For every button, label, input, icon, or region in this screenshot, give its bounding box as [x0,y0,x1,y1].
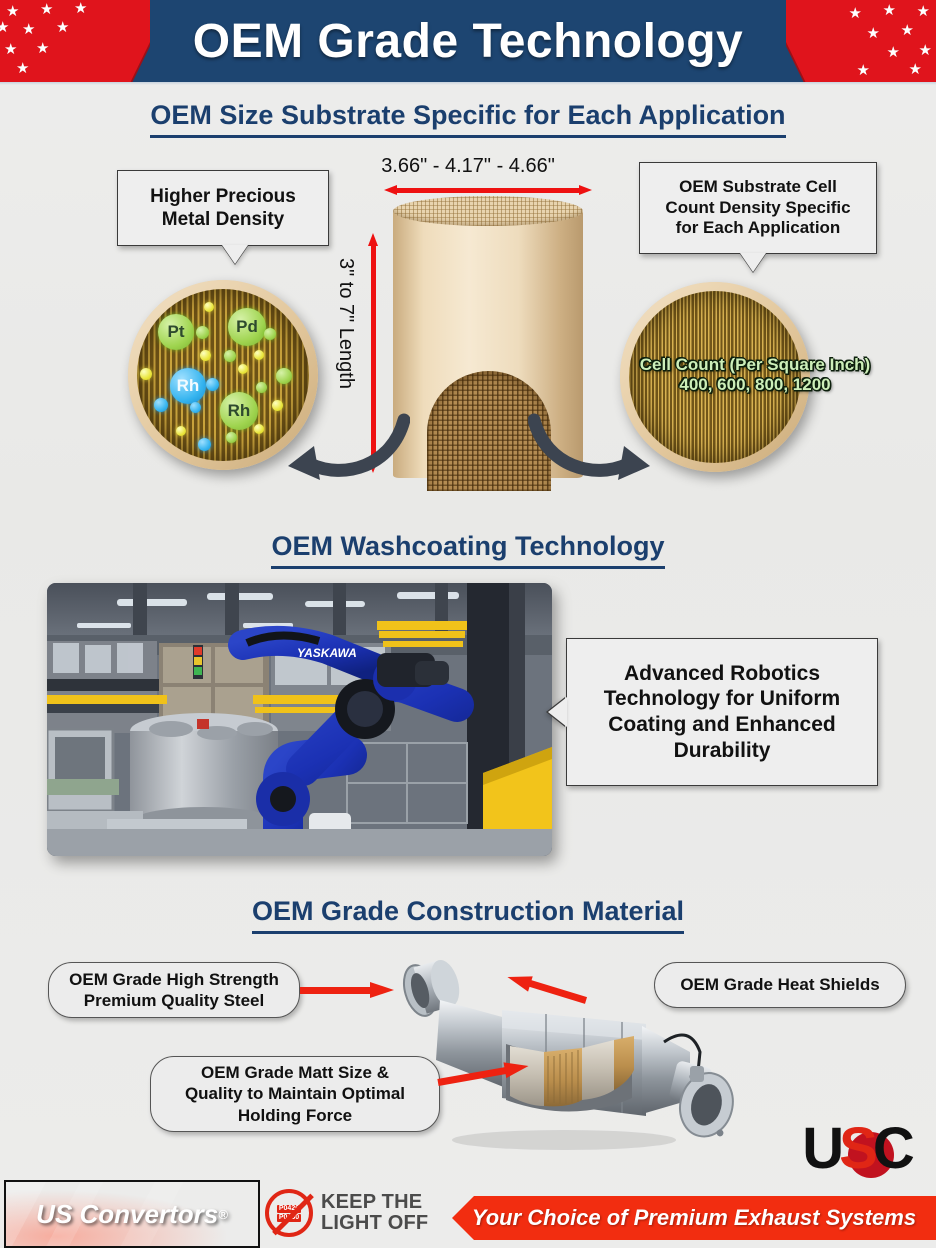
cell-count-line: Cell Count (Per Square Inch) [595,355,915,375]
callout-line: Premium Quality Steel [69,990,279,1011]
particle-icon [140,368,152,380]
callout-tail [222,245,248,264]
callout-line: Metal Density [150,208,296,231]
arrow-head-up-icon [368,233,378,246]
washcoating-photo: YASKAWA [47,583,552,856]
arrow-head-right-icon [579,185,592,195]
header-divider [0,82,936,85]
keep-line-1: KEEP THE [321,1192,428,1213]
callout-line: Durability [604,738,840,764]
particle-icon [226,432,237,443]
arrow-bar [395,188,581,193]
brand-badge: US Convertors® [4,1180,260,1248]
infographic-page: ★ ★ ★ ★ ★ ★ ★ ★ ★ ★ ★ ★ ★ ★ ★ ★ ★ ★ OEM … [0,0,936,1248]
callout-line: OEM Substrate Cell [665,177,850,198]
particle-icon [256,382,267,393]
arrow-bar [300,987,372,994]
particle-icon [254,424,264,434]
cell-count-overlay: Cell Count (Per Square Inch) 400, 600, 8… [595,355,915,395]
particle-icon [206,378,219,391]
callout-line: Count Density Specific [665,198,850,219]
arrow-bar [371,244,376,462]
callout-line: Quality to Maintain Optimal [185,1083,405,1104]
callout-line: Advanced Robotics [604,661,840,687]
callout-line: for Each Application [665,218,850,239]
callout-oem-substrate-cell-count: OEM Substrate Cell Count Density Specifi… [639,162,877,254]
callout-line: OEM Grade Matt Size & [185,1062,405,1083]
particle-icon [154,398,168,412]
section-title-washcoating: OEM Washcoating Technology [0,531,936,562]
logo-letter-s: S [839,1120,873,1178]
callout-line: OEM Grade High Strength [69,969,279,990]
particle-icon [224,350,236,362]
keep-line-2: LIGHT OFF [321,1213,428,1234]
callout-line: Coating and Enhanced [604,712,840,738]
metal-bubble-pd: Pd [228,308,266,346]
tagline-text: Your Choice of Premium Exhaust Systems [472,1205,916,1231]
metal-bubble-pt: Pt [158,314,194,350]
particle-icon [238,364,248,374]
section-title-construction-text: OEM Grade Construction Material [252,896,684,934]
cell-count-values: 400, 600, 800, 1200 [595,375,915,395]
logo-letter-c: C [873,1120,910,1178]
section-title-washcoating-text: OEM Washcoating Technology [271,531,664,569]
callout-tail [548,697,567,727]
particle-icon [200,350,211,361]
logo-letters: U S C [792,1116,920,1182]
callout-text: OEM Grade Matt Size & Quality to Maintai… [185,1062,405,1126]
arrow-head-down-icon [368,460,378,473]
brand-name: US Convertors® [6,1182,258,1246]
substrate-top-cells [393,196,583,226]
particle-icon [204,302,214,312]
page-header: ★ ★ ★ ★ ★ ★ ★ ★ ★ ★ ★ ★ ★ ★ ★ ★ ★ ★ OEM … [0,0,936,82]
particle-icon [176,426,186,436]
callout-line: Technology for Uniform [604,686,840,712]
arrow-to-steel [300,982,394,999]
particle-icon [254,350,264,360]
diameter-arrow [384,185,592,196]
particle-icon [198,438,211,451]
callout-text: Higher Precious Metal Density [150,185,296,231]
tagline-banner: Your Choice of Premium Exhaust Systems [452,1196,936,1240]
page-title: OEM Grade Technology [0,0,936,82]
section-title-substrate-text: OEM Size Substrate Specific for Each App… [150,100,785,138]
callout-higher-precious-metal-density: Higher Precious Metal Density [117,170,329,246]
callout-line: Higher Precious [150,185,296,208]
arrow-head-right-icon [503,1058,529,1078]
logo-letter-u: U [802,1120,839,1178]
callout-text: OEM Grade High Strength Premium Quality … [69,969,279,1012]
callout-text: OEM Substrate Cell Count Density Specifi… [665,177,850,239]
factory-robot-illustration: YASKAWA [47,583,552,856]
particle-icon [264,328,276,340]
particle-icon [190,402,201,413]
robot-brand-label: YASKAWA [297,646,357,660]
callout-line: OEM Grade Heat Shields [680,974,879,995]
substrate-length-label: 3" to 7" Length [334,258,357,389]
usc-logo: U S C [792,1116,920,1182]
brand-name-text: US Convertors [36,1199,218,1230]
callout-matt-size-quality: OEM Grade Matt Size & Quality to Maintai… [150,1056,440,1132]
registered-mark: ® [218,1207,228,1222]
callout-heat-shields: OEM Grade Heat Shields [654,962,906,1008]
callout-tail [740,253,766,272]
no-symbol-icon: P0420 P0430 [265,1189,313,1237]
section-title-construction: OEM Grade Construction Material [0,896,936,927]
particle-icon [276,368,292,384]
section-title-substrate: OEM Size Substrate Specific for Each App… [0,100,936,131]
metal-bubble-rh-blue: Rh [170,368,206,404]
callout-advanced-robotics: Advanced Robotics Technology for Uniform… [566,638,878,786]
magnified-circle-precious-metals: Pt Pd Rh Rh [128,280,318,470]
arrow-head-left-icon [384,185,397,195]
arrow-head-right-icon [370,982,394,998]
substrate-cutaway-cells [427,371,551,491]
callout-high-strength-steel: OEM Grade High Strength Premium Quality … [48,962,300,1018]
callout-text: Advanced Robotics Technology for Uniform… [604,661,840,763]
keep-light-off-badge: P0420 P0430 KEEP THE LIGHT OFF [265,1186,445,1240]
particle-icon [272,400,283,411]
keep-light-off-text: KEEP THE LIGHT OFF [321,1192,428,1234]
length-arrow [368,233,379,473]
particle-icon [196,326,209,339]
substrate-cylinder [393,196,583,491]
metal-bubble-rh-green: Rh [220,392,258,430]
callout-line: Holding Force [185,1105,405,1126]
